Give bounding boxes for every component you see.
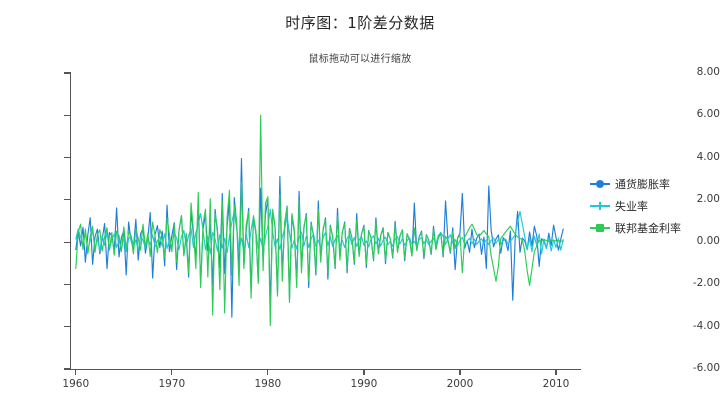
y-tick-mark [64, 284, 71, 285]
legend-item-square[interactable]: 联邦基金利率 [590, 220, 681, 236]
chart-title: 时序图：1阶差分数据 [0, 12, 720, 33]
chart-subtitle: 鼠标拖动可以进行缩放 [0, 50, 720, 65]
y-tick-mark [64, 199, 71, 200]
legend-swatch-icon [590, 201, 610, 211]
x-tick-mark [171, 369, 172, 375]
legend-swatch-icon [590, 179, 610, 189]
x-tick-mark [555, 369, 556, 375]
y-tick-label: 4.00 [664, 151, 720, 163]
x-tick-mark [363, 369, 364, 375]
x-tick-label: 1980 [238, 378, 298, 390]
x-tick-label: 1970 [142, 378, 202, 390]
legend-item-circle[interactable]: 通货膨胀率 [590, 176, 681, 192]
legend-item-plus[interactable]: 失业率 [590, 198, 681, 214]
y-tick-label: 6.00 [664, 108, 720, 120]
chart-legend: 通货膨胀率失业率联邦基金利率 [590, 176, 681, 236]
x-tick-mark [459, 369, 460, 375]
y-tick-label: -4.00 [664, 320, 720, 332]
x-tick-label: 1960 [46, 378, 106, 390]
y-tick-mark [64, 157, 71, 158]
y-tick-mark [64, 368, 71, 369]
legend-item-label: 通货膨胀率 [615, 176, 670, 192]
y-tick-label: -6.00 [664, 362, 720, 374]
y-tick-label: -2.00 [664, 277, 720, 289]
x-tick-label: 2000 [430, 378, 490, 390]
x-tick-mark [75, 369, 76, 375]
y-tick-label: 8.00 [664, 66, 720, 78]
chart-container: 时序图：1阶差分数据 鼠标拖动可以进行缩放 8.006.004.002.000.… [0, 0, 720, 406]
y-tick-label: 0.00 [664, 235, 720, 247]
legend-swatch-icon [590, 223, 610, 233]
y-tick-mark [64, 326, 71, 327]
legend-item-label: 失业率 [615, 198, 648, 214]
x-tick-mark [267, 369, 268, 375]
x-tick-label: 1990 [334, 378, 394, 390]
plot-area[interactable] [71, 73, 580, 369]
y-tick-mark [64, 72, 71, 73]
y-tick-mark [64, 115, 71, 116]
series-lines [71, 73, 580, 369]
x-tick-label: 2010 [526, 378, 586, 390]
legend-item-label: 联邦基金利率 [615, 220, 681, 236]
y-tick-mark [64, 242, 71, 243]
